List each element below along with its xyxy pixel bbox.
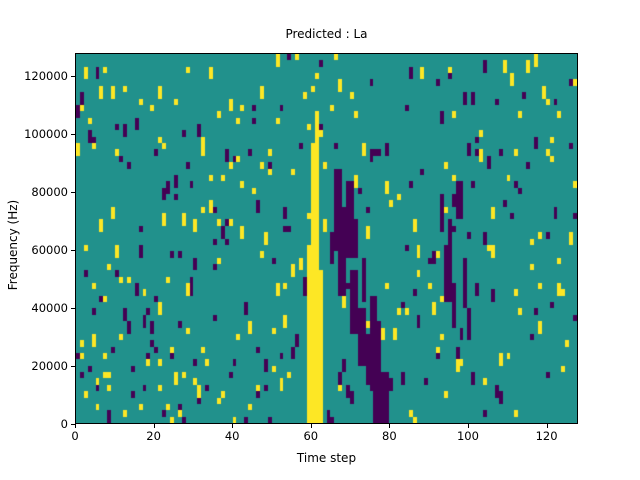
y-tick-mark bbox=[71, 250, 75, 251]
chart-title: Predicted : La bbox=[75, 26, 578, 42]
x-tick-mark bbox=[75, 424, 76, 428]
x-tick-mark bbox=[154, 424, 155, 428]
x-tick-label: 120 bbox=[517, 429, 577, 443]
x-axis-label: Time step bbox=[75, 451, 578, 465]
y-tick-label: 120000 bbox=[6, 69, 68, 83]
x-tick-label: 100 bbox=[438, 429, 498, 443]
figure-canvas: Predicted : La Frequency (Hz) 0200004000… bbox=[0, 0, 640, 480]
x-axis-tick-labels: 020406080100120 bbox=[75, 429, 578, 445]
y-tick-label: 20000 bbox=[6, 359, 68, 373]
y-tick-label: 40000 bbox=[6, 301, 68, 315]
y-tick-label: 60000 bbox=[6, 243, 68, 257]
x-tick-mark bbox=[468, 424, 469, 428]
x-tick-mark bbox=[232, 424, 233, 428]
y-tick-mark bbox=[71, 76, 75, 77]
x-tick-label: 60 bbox=[281, 429, 341, 443]
plot-area[interactable] bbox=[75, 53, 578, 424]
x-tick-mark bbox=[311, 424, 312, 428]
y-tick-mark bbox=[71, 366, 75, 367]
x-tick-mark bbox=[389, 424, 390, 428]
x-tick-label: 40 bbox=[202, 429, 262, 443]
heatmap-image[interactable] bbox=[76, 54, 577, 423]
x-tick-mark bbox=[547, 424, 548, 428]
x-tick-label: 0 bbox=[45, 429, 105, 443]
y-tick-label: 100000 bbox=[6, 127, 68, 141]
x-tick-label: 80 bbox=[359, 429, 419, 443]
y-tick-mark bbox=[71, 308, 75, 309]
y-tick-mark bbox=[71, 134, 75, 135]
x-tick-label: 20 bbox=[124, 429, 184, 443]
y-axis-tick-labels: 020000400006000080000100000120000 bbox=[0, 53, 68, 424]
y-tick-mark bbox=[71, 192, 75, 193]
y-tick-label: 80000 bbox=[6, 185, 68, 199]
